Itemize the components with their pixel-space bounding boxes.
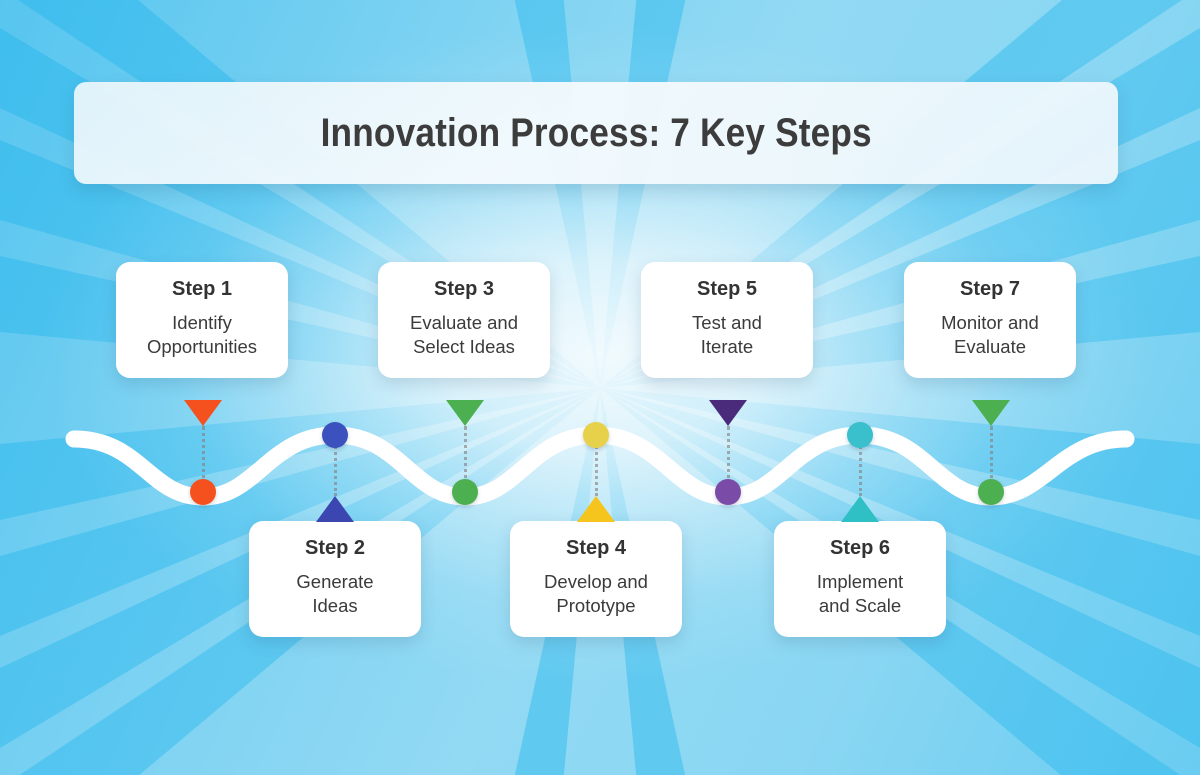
step-wave-dot-6[interactable]	[847, 422, 873, 448]
step-description-line: Generate	[259, 570, 411, 594]
step-label-2: Step 2	[259, 537, 411, 559]
step-wave-dot-5[interactable]	[715, 479, 741, 505]
step-description-5: Test andIterate	[651, 311, 803, 360]
step-description-line: and Scale	[784, 594, 936, 618]
step-card-3[interactable]: Step 3Evaluate andSelect Ideas	[378, 262, 550, 378]
step-description-line: Evaluate and	[388, 311, 540, 335]
step-card-5[interactable]: Step 5Test andIterate	[641, 262, 813, 378]
step-pointer-1	[184, 400, 222, 426]
infographic-root: Innovation Process: 7 Key Steps Step 1Id…	[0, 0, 1200, 775]
step-description-line: Develop and	[520, 570, 672, 594]
step-label-7: Step 7	[914, 278, 1066, 300]
step-wave-dot-7[interactable]	[978, 479, 1004, 505]
step-label-6: Step 6	[784, 537, 936, 559]
step-wave-dot-4[interactable]	[583, 422, 609, 448]
steps-layer: Step 1IdentifyOpportunitiesStep 2Generat…	[0, 0, 1200, 775]
step-pointer-2	[316, 496, 354, 522]
step-wave-dot-1[interactable]	[190, 479, 216, 505]
step-card-6[interactable]: Step 6Implementand Scale	[774, 521, 946, 637]
step-description-line: Implement	[784, 570, 936, 594]
step-description-line: Select Ideas	[388, 335, 540, 359]
step-description-line: Identify	[126, 311, 278, 335]
step-card-4[interactable]: Step 4Develop andPrototype	[510, 521, 682, 637]
step-pointer-5	[709, 400, 747, 426]
step-description-4: Develop andPrototype	[520, 570, 672, 619]
step-description-line: Test and	[651, 311, 803, 335]
step-description-1: IdentifyOpportunities	[126, 311, 278, 360]
step-label-1: Step 1	[126, 278, 278, 300]
step-pointer-7	[972, 400, 1010, 426]
step-label-5: Step 5	[651, 278, 803, 300]
step-description-2: GenerateIdeas	[259, 570, 411, 619]
step-description-line: Opportunities	[126, 335, 278, 359]
step-description-line: Ideas	[259, 594, 411, 618]
step-wave-dot-3[interactable]	[452, 479, 478, 505]
step-description-3: Evaluate andSelect Ideas	[388, 311, 540, 360]
step-description-6: Implementand Scale	[784, 570, 936, 619]
step-description-line: Iterate	[651, 335, 803, 359]
step-label-4: Step 4	[520, 537, 672, 559]
step-description-7: Monitor andEvaluate	[914, 311, 1066, 360]
step-pointer-3	[446, 400, 484, 426]
step-description-line: Prototype	[520, 594, 672, 618]
step-card-2[interactable]: Step 2GenerateIdeas	[249, 521, 421, 637]
step-description-line: Evaluate	[914, 335, 1066, 359]
step-pointer-4	[577, 496, 615, 522]
step-description-line: Monitor and	[914, 311, 1066, 335]
step-card-1[interactable]: Step 1IdentifyOpportunities	[116, 262, 288, 378]
step-card-7[interactable]: Step 7Monitor andEvaluate	[904, 262, 1076, 378]
step-pointer-6	[841, 496, 879, 522]
step-label-3: Step 3	[388, 278, 540, 300]
step-wave-dot-2[interactable]	[322, 422, 348, 448]
